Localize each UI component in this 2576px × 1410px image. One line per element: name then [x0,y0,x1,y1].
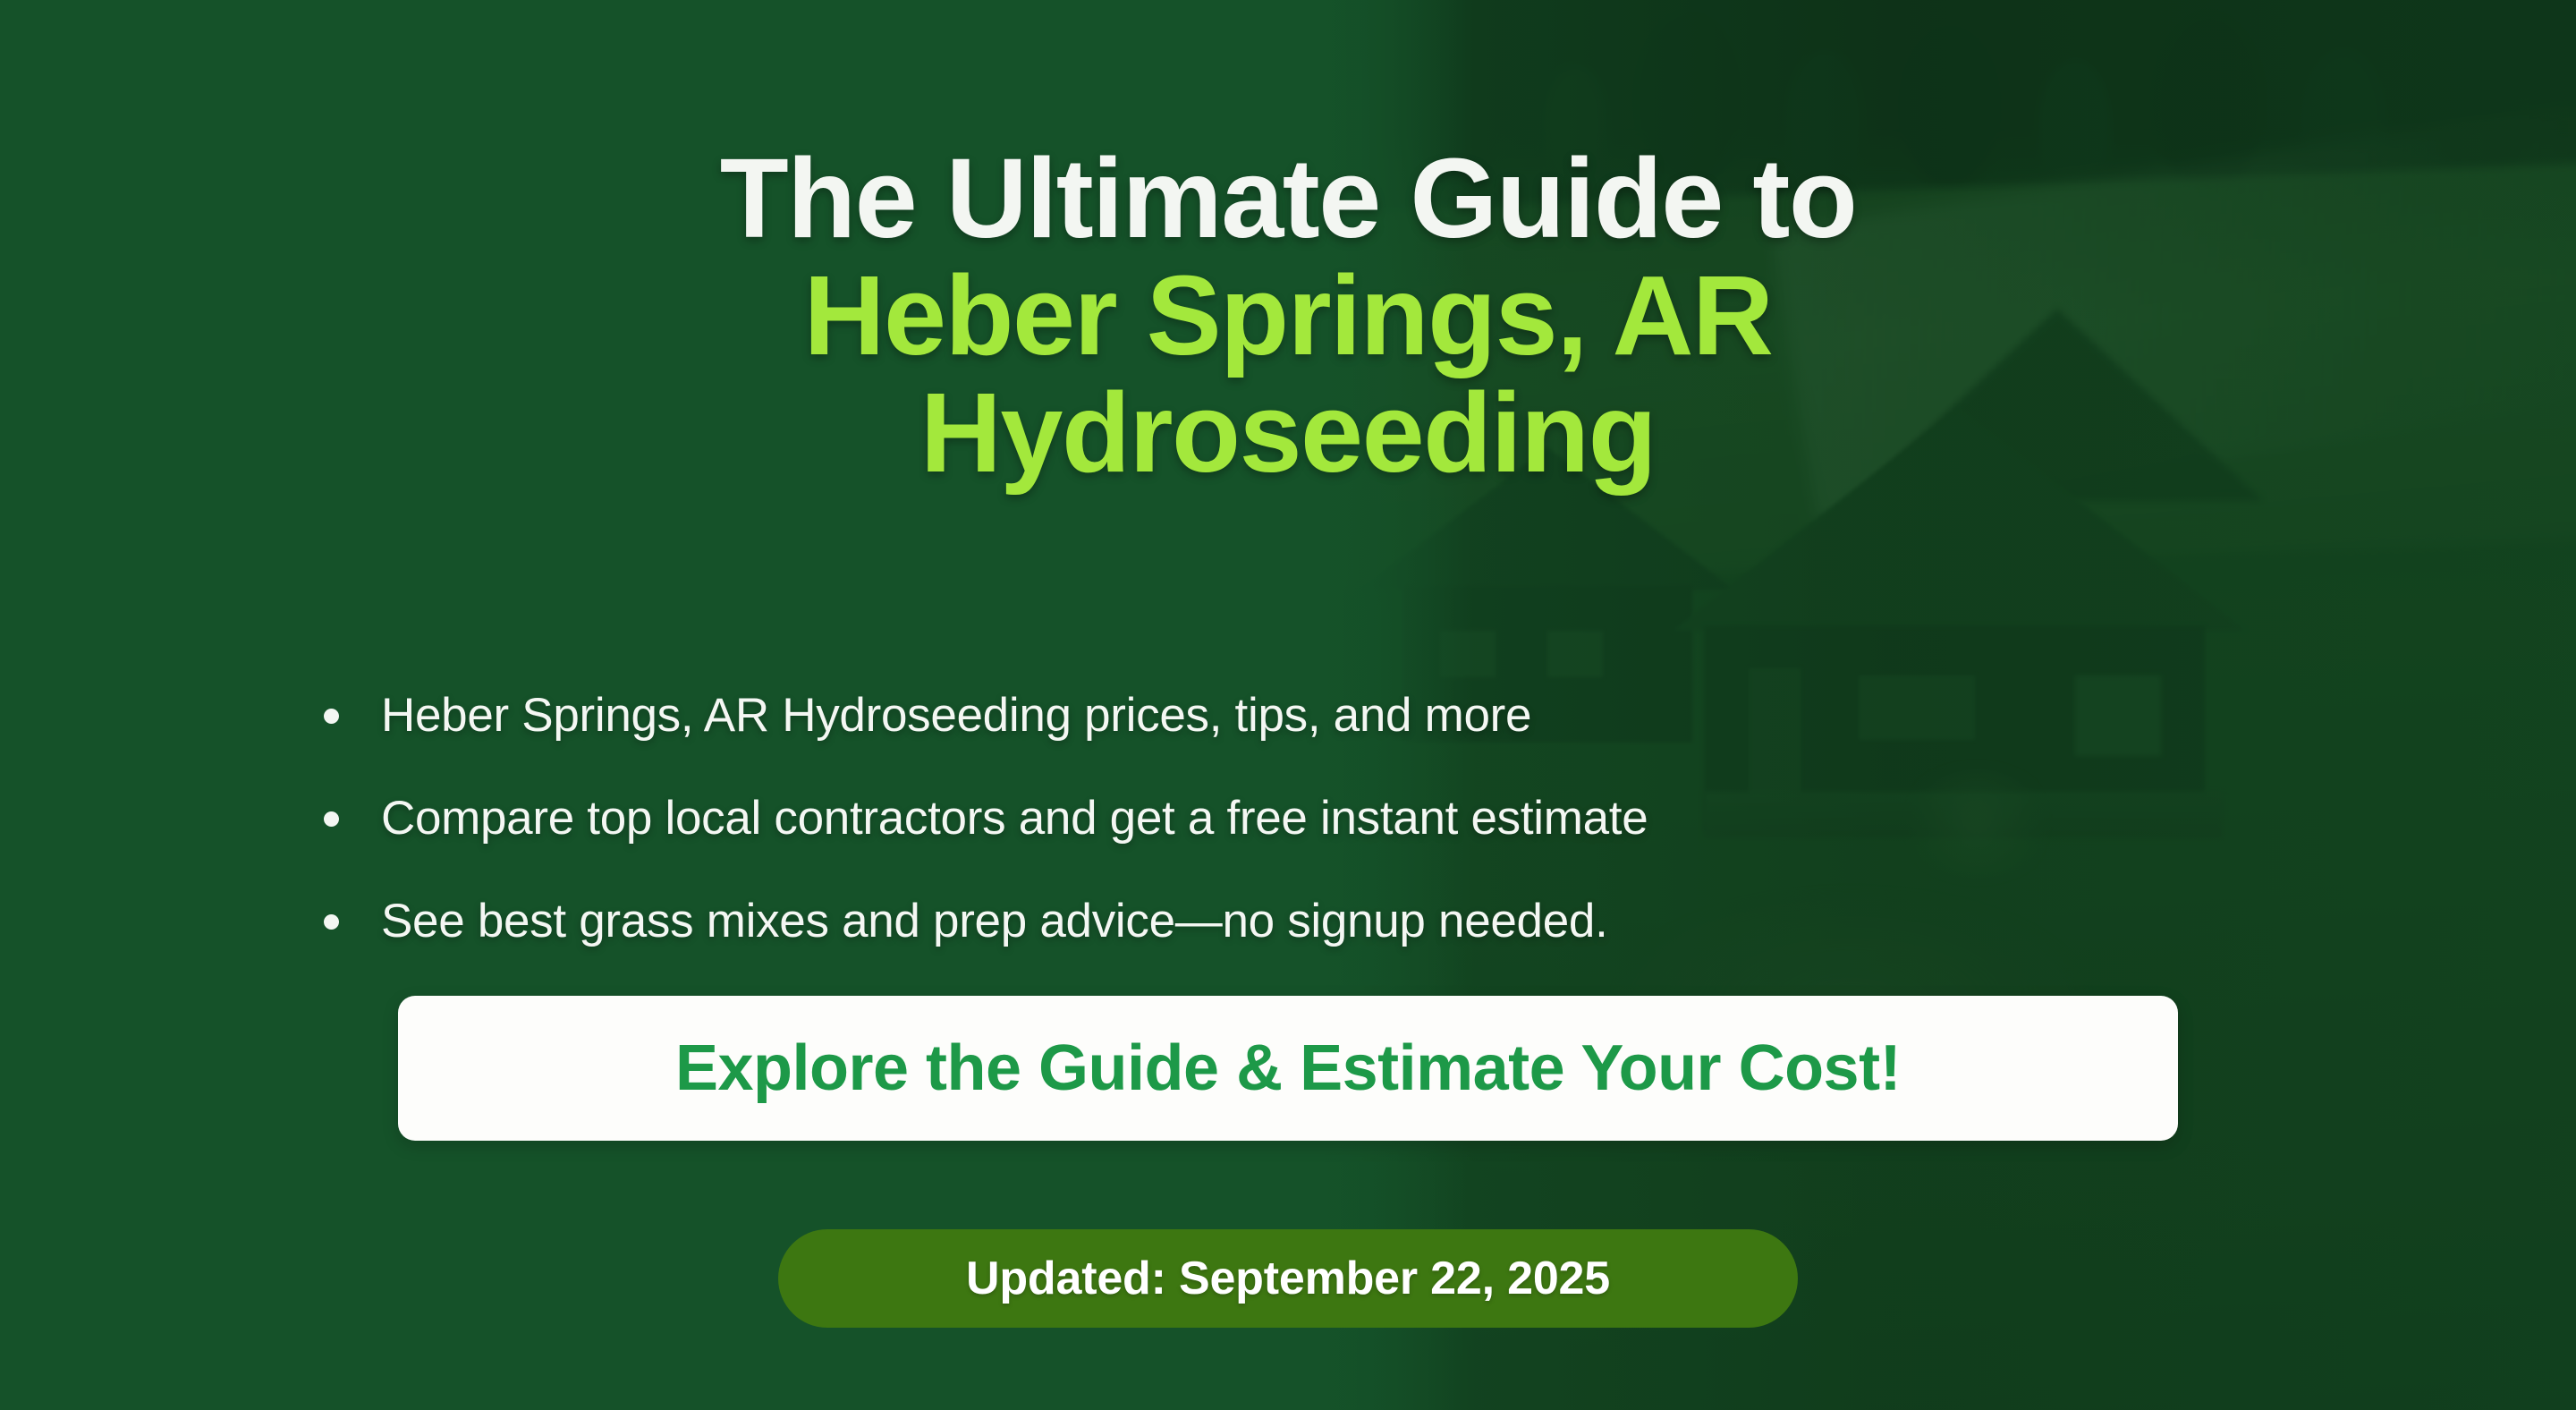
hero-banner: The Ultimate Guide to Heber Springs, AR … [0,0,2576,1410]
list-item: Heber Springs, AR Hydroseeding prices, t… [315,664,2283,767]
headline-accent-line-2: Hydroseeding [143,374,2433,491]
feature-list: Heber Springs, AR Hydroseeding prices, t… [315,664,2283,973]
list-item: Compare top local contractors and get a … [315,767,2283,870]
hero-content: The Ultimate Guide to Heber Springs, AR … [0,0,2576,1410]
explore-guide-button[interactable]: Explore the Guide & Estimate Your Cost! [398,996,2178,1141]
page-title: The Ultimate Guide to Heber Springs, AR … [0,140,2576,491]
updated-date-badge: Updated: September 22, 2025 [778,1229,1798,1328]
list-item: See best grass mixes and prep advice—no … [315,870,2283,973]
headline-lead: The Ultimate Guide to [143,140,2433,257]
headline-accent-line-1: Heber Springs, AR [143,257,2433,374]
